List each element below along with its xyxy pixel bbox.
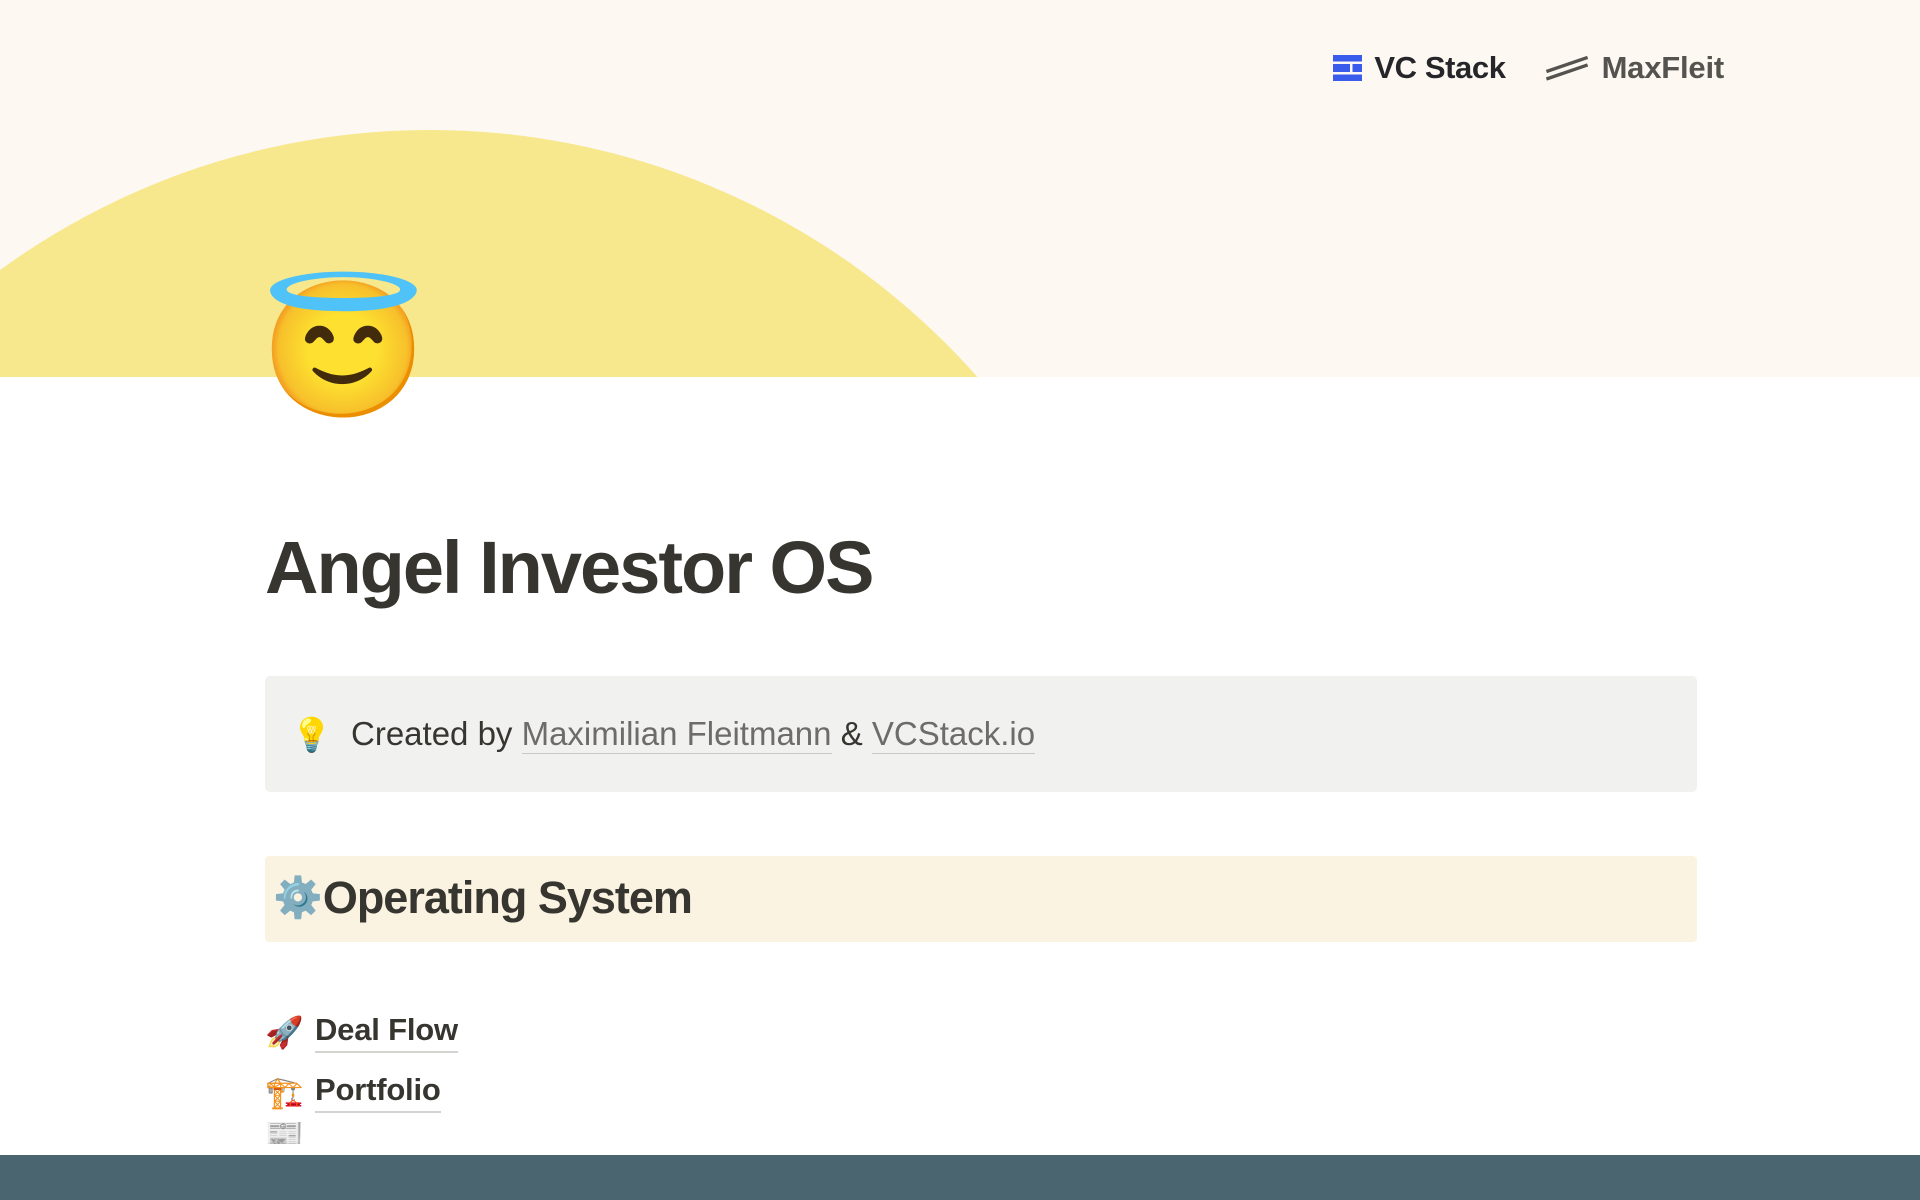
brand-bar: VC Stack MaxFleit	[1333, 52, 1724, 83]
page-title[interactable]: Angel Investor OS	[265, 527, 1705, 608]
list-item-portfolio[interactable]: 🏗️ Portfolio	[265, 1062, 1705, 1122]
vc-stack-grid-icon	[1333, 55, 1362, 81]
bottom-bar	[0, 1155, 1920, 1200]
page-icon-emoji[interactable]: 😇	[260, 275, 412, 427]
sub-pages-list: 🚀 Deal Flow 🏗️ Portfolio 📰	[265, 1002, 1705, 1144]
maxfleit-slash-icon	[1546, 55, 1590, 81]
list-item-label[interactable]: Portfolio	[315, 1072, 441, 1113]
section-heading-operating-system: ⚙️ Operating System	[265, 856, 1697, 942]
callout-credits: 💡 Created by Maximilian Fleitmann & VCSt…	[265, 676, 1697, 792]
callout-prefix: Created by	[351, 715, 522, 752]
building-construction-emoji: 🏗️	[265, 1077, 299, 1108]
cover-arc-shape	[0, 130, 1160, 377]
brand-maxfleit-label: MaxFleit	[1602, 52, 1724, 83]
partially-visible-emoji: 📰	[265, 1122, 299, 1144]
callout-separator: &	[832, 715, 872, 752]
callout-text: Created by Maximilian Fleitmann & VCStac…	[351, 712, 1035, 757]
rocket-emoji: 🚀	[265, 1017, 299, 1048]
brand-vc-stack[interactable]: VC Stack	[1333, 52, 1505, 83]
brand-vc-stack-label: VC Stack	[1374, 52, 1505, 83]
link-author[interactable]: Maximilian Fleitmann	[522, 715, 832, 754]
light-bulb-emoji: 💡	[291, 718, 327, 751]
brand-maxfleit[interactable]: MaxFleit	[1546, 52, 1724, 83]
notion-template-page: VC Stack MaxFleit 😇 Angel Investor OS 💡	[0, 0, 1920, 1200]
list-item-deal-flow[interactable]: 🚀 Deal Flow	[265, 1002, 1705, 1062]
section-heading-label: Operating System	[323, 872, 692, 924]
page-content: Angel Investor OS 💡 Created by Maximilia…	[0, 377, 1920, 1144]
link-vcstack-site[interactable]: VCStack.io	[872, 715, 1035, 754]
list-item-partially-visible[interactable]: 📰	[265, 1122, 1705, 1144]
list-item-label[interactable]: Deal Flow	[315, 1012, 458, 1053]
gear-emoji: ⚙️	[273, 878, 323, 918]
